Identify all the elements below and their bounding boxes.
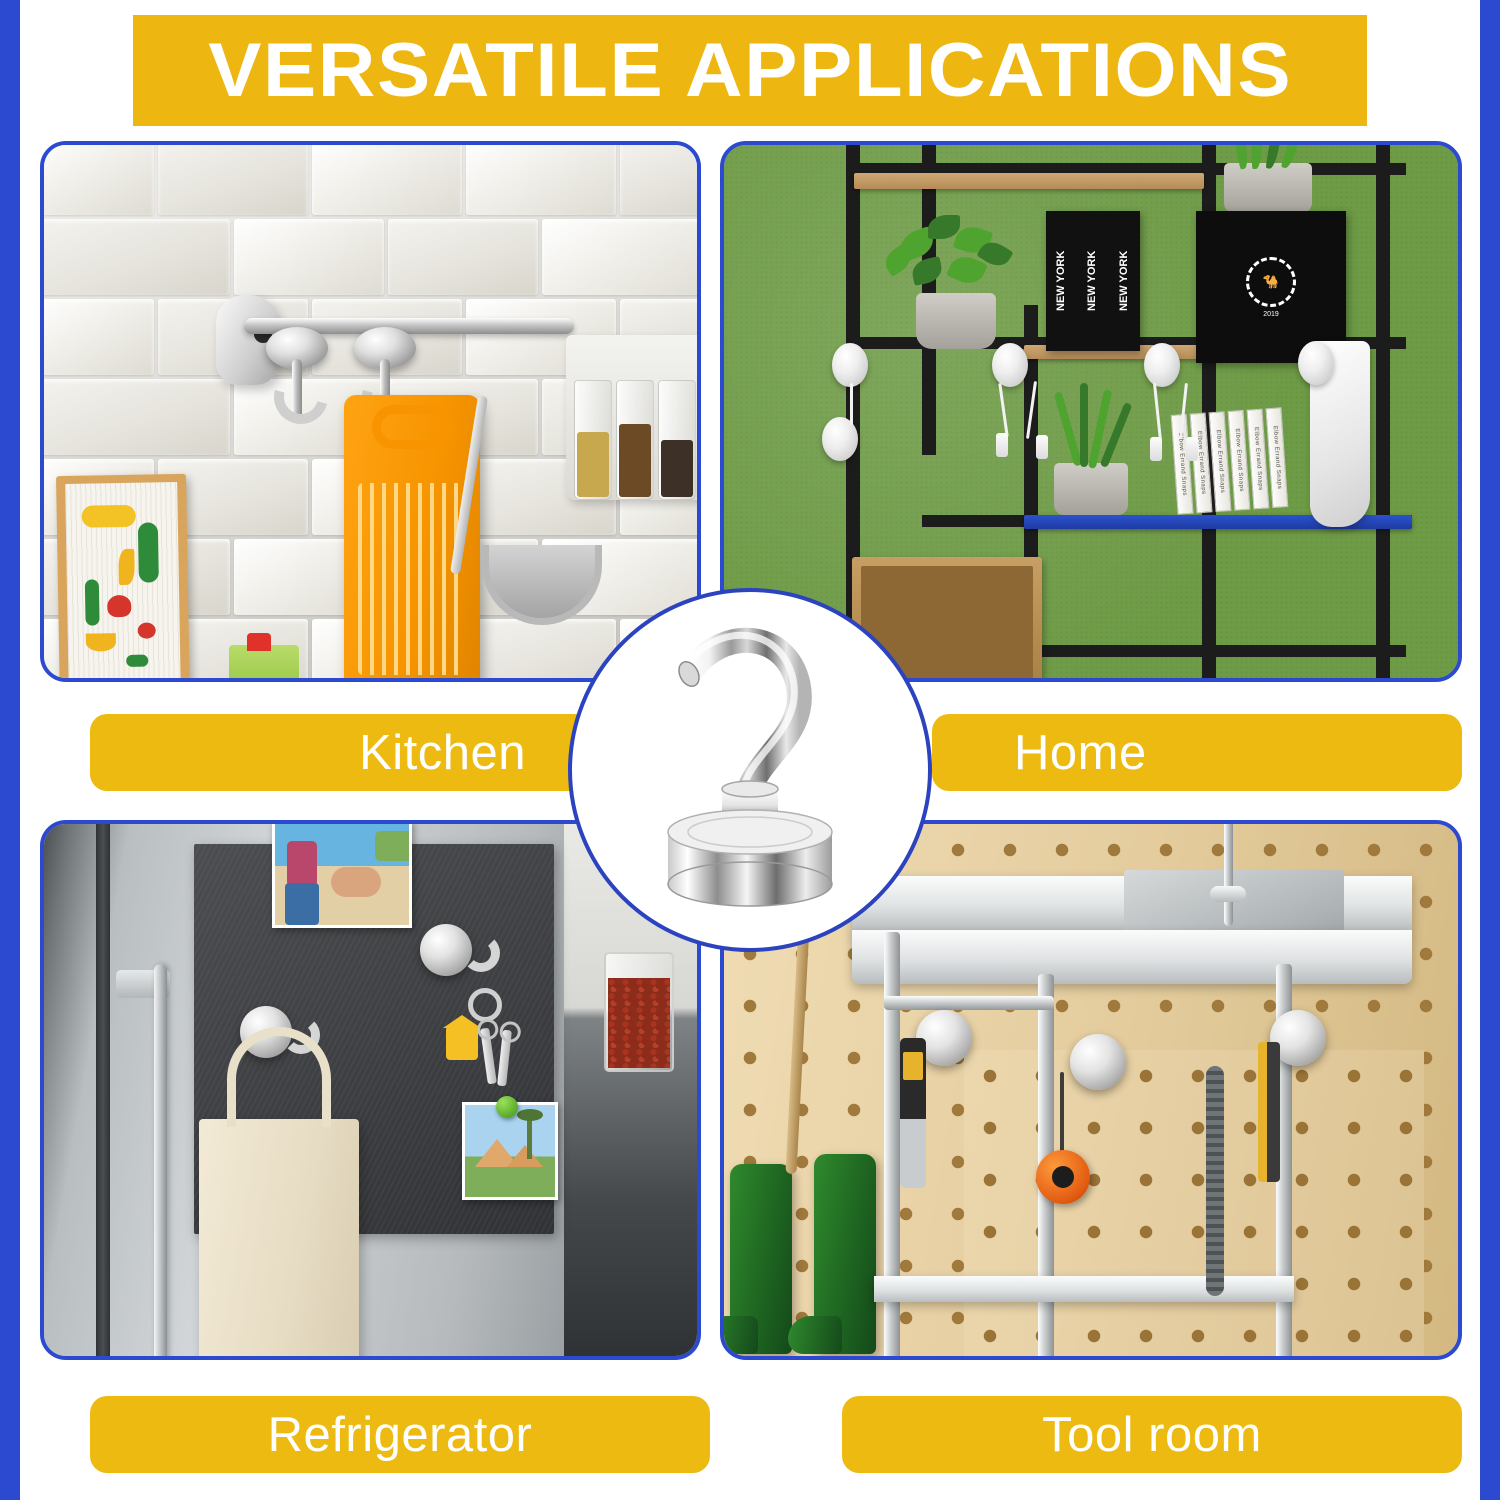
green-magnet [496,1096,518,1118]
kitchen-scene [44,145,697,678]
house-keychain [446,1026,478,1060]
wrench [900,1038,926,1188]
tile [40,379,230,455]
new-york-poster: NEW YORK NEW YORK NEW YORK [1046,211,1140,351]
tape-measure [1036,1150,1090,1204]
slicer-wires [358,483,466,675]
label-kitchen-text: Kitchen [359,725,526,781]
magnetic-hook-disc [832,343,868,387]
plant-pot [916,293,996,349]
cable-connector [1150,437,1162,461]
label-home-text: Home [1014,725,1147,781]
poster-line: NEW YORK [1046,211,1077,351]
spice-jar [658,380,696,500]
flexible-hose [1206,1066,1224,1296]
door-seam [96,824,110,1360]
plant-leaf [1080,383,1088,467]
tile [542,219,701,295]
home-scene: NEW YORK NEW YORK NEW YORK 🐪 2019 Elbo [724,145,1458,678]
magnetic-hook-disc [1070,1034,1126,1090]
tile [40,299,154,375]
tape-lanyard [1060,1072,1064,1158]
art-caption: 2019 [1263,311,1279,318]
faucet [1224,820,1233,926]
plant-pot [1224,163,1312,213]
cable-connector [1036,435,1048,459]
wrench-label [903,1052,923,1080]
shelf-board [854,173,1204,189]
bean-jar-contents [608,978,670,1068]
panel-kitchen[interactable] [40,141,701,682]
utility-knife [1258,1042,1280,1182]
bench-rail [884,996,1054,1010]
tile [466,619,616,682]
poster-line: NEW YORK [1077,211,1108,351]
label-toolroom-text: Tool room [1042,1407,1262,1463]
plant-pot [1054,463,1128,515]
faucet-joint [1210,886,1246,902]
tile [234,219,384,295]
framed-picture [56,474,190,682]
rubber-boot [730,1164,792,1354]
slicer-handle [372,405,452,449]
spice-rack [566,335,701,500]
magnetic-hook-arm [462,934,500,972]
panel-refrigerator[interactable] [40,820,701,1360]
tile [312,141,462,215]
label-refrigerator-text: Refrigerator [268,1407,533,1463]
rubber-boot [814,1154,876,1354]
page-frame: VERSATILE APPLICATIONS [0,0,1500,1500]
green-carton [229,645,299,682]
magnetic-hook-icon [572,592,928,948]
label-toolroom[interactable]: Tool room [842,1396,1462,1473]
workbench-apron [852,930,1412,984]
picture-art [65,482,181,682]
magnetic-hook-disc [992,343,1028,387]
product-highlight-circle[interactable] [568,588,932,952]
tote-strap [227,1027,331,1127]
tile [620,141,701,215]
refrigerator-scene [44,824,697,1356]
bean-jar [604,952,674,1072]
poster-line: NEW YORK [1109,211,1140,351]
spice-jar [574,380,612,500]
tile [40,219,230,295]
tile [466,141,616,215]
refrigerator-handle [154,964,167,1360]
tile [40,141,154,215]
label-home[interactable]: Home [932,714,1462,791]
title-banner: VERSATILE APPLICATIONS [133,15,1367,126]
bench-lower-shelf [874,1276,1294,1302]
panel-home[interactable]: NEW YORK NEW YORK NEW YORK 🐪 2019 Elbo [720,141,1462,682]
magnetic-hook-disc [1298,341,1334,385]
shelf-post [1376,141,1390,682]
magnetic-hook-arm [292,359,302,419]
tile [158,141,308,215]
label-refrigerator[interactable]: Refrigerator [90,1396,710,1473]
tote-bag [199,1119,359,1360]
spice-jar [616,380,654,500]
cable-connector [1186,437,1198,461]
camel-icon: 🐪 [1246,257,1296,307]
content-canvas: VERSATILE APPLICATIONS [20,0,1480,1500]
label-kitchen[interactable]: Kitchen [90,714,610,791]
cable-connector [996,433,1008,457]
cable [850,383,853,425]
tile [388,219,538,295]
book-stack: Elbow Errand Snaps Elbow Errand Snaps El… [1171,407,1289,514]
magnetic-hook-disc [1144,343,1180,387]
page-title: VERSATILE APPLICATIONS [208,33,1292,109]
photo-top [272,820,412,928]
pegboard-panel [964,1050,1424,1360]
